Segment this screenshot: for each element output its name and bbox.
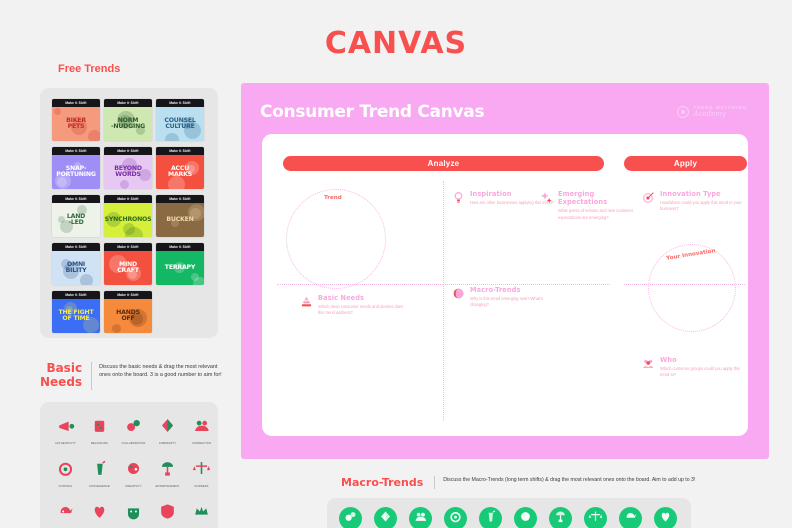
trophy-icon xyxy=(623,509,638,528)
macro-trend-bubble[interactable] xyxy=(409,507,432,528)
macro-trends-title: Macro-Trends xyxy=(341,476,423,489)
decorative-blob xyxy=(80,274,93,285)
macro-trend-bubble[interactable] xyxy=(549,507,572,528)
trend-card[interactable]: Make it ShiftACCUMARKS xyxy=(156,147,204,189)
trend-card[interactable]: Make it ShiftTHE FIGHTOF TIME xyxy=(52,291,100,333)
trend-card[interactable]: Make it ShiftSYNCHRONOS xyxy=(104,195,152,237)
trend-card-bar: Make it Shift xyxy=(52,195,100,203)
basic-need-item[interactable]: HEALTH xyxy=(83,502,116,528)
divider-vertical xyxy=(443,181,444,421)
trend-card-name: ACCUMARKS xyxy=(168,166,192,179)
basic-needs-title-line2: Needs xyxy=(40,376,82,390)
basic-needs-title-line1: Basic xyxy=(40,362,82,376)
bird-icon xyxy=(49,502,82,526)
chip-icon xyxy=(553,509,568,528)
trend-card[interactable]: Make it ShiftHANDSOFF xyxy=(104,291,152,333)
trend-card-bar: Make it Shift xyxy=(52,147,100,155)
basic-need-label: BELONGING xyxy=(83,442,116,445)
sweater-icon xyxy=(83,416,116,440)
basic-need-item[interactable]: CONTROL xyxy=(49,459,82,488)
basic-need-label: CREATIVITY xyxy=(117,485,150,488)
person-icon xyxy=(378,509,393,528)
free-trends-panel: Make it ShiftBIKERPETSMake it ShiftNORM-… xyxy=(40,88,218,338)
basic-needs-title: Basic Needs xyxy=(40,362,82,390)
basic-need-item[interactable]: AUTHENTICITY xyxy=(49,416,82,445)
cell-heading: Basic Needs xyxy=(318,294,410,302)
trend-card-bar: Make it Shift xyxy=(156,99,204,107)
basic-need-label: COLLABORATION xyxy=(117,442,150,445)
heart-icon xyxy=(83,502,116,526)
lightbulb-icon xyxy=(452,191,465,204)
trend-card-bar: Make it Shift xyxy=(104,195,152,203)
cell-heading: Emerging Expectations xyxy=(558,190,640,206)
trendwatching-logo: TREND WATCHING Academy xyxy=(677,105,747,118)
people-icon xyxy=(185,416,218,440)
cell-question: Which deep consumer needs and desires do… xyxy=(318,304,410,316)
page-title: CANVAS xyxy=(0,26,792,61)
trend-circle-label: Trend xyxy=(324,195,342,201)
macro-trends-panel xyxy=(327,498,691,528)
parachute-icon xyxy=(151,459,184,483)
decorative-blob xyxy=(120,180,129,189)
trend-card[interactable]: Make it ShiftNORM-NUDGING xyxy=(104,99,152,141)
basic-need-item[interactable]: IDENTITY xyxy=(117,502,150,528)
shield-icon xyxy=(151,502,184,526)
basic-need-label: AUTHENTICITY xyxy=(49,442,82,445)
megaphone-icon xyxy=(49,416,82,440)
basic-needs-panel: AUTHENTICITYBELONGINGCOLLABORATIONCOMMUN… xyxy=(40,402,218,528)
decorative-blob xyxy=(88,130,100,141)
basic-need-label: FAIRNESS xyxy=(185,485,218,488)
basic-need-item[interactable]: FREEDOM xyxy=(49,502,82,528)
trend-card-bar: Make it Shift xyxy=(156,243,204,251)
macro-trend-bubble[interactable] xyxy=(339,507,362,528)
canvas-workspace: CANVAS Free Trends Make it ShiftBIKERPET… xyxy=(0,0,792,528)
macro-trend-bubble[interactable] xyxy=(374,507,397,528)
trend-card-name: MINDCRAFT xyxy=(117,262,139,275)
basic-need-item[interactable]: CREATIVITY xyxy=(117,459,150,488)
trendwatching-logo-icon xyxy=(677,106,689,118)
mask-icon xyxy=(117,502,150,526)
handshake-icon xyxy=(343,509,358,528)
cell-question: How/where could you apply this trend to … xyxy=(660,200,750,212)
basic-need-label: ENTERTAINMENT xyxy=(151,485,184,488)
basic-need-label: CONNECTION xyxy=(185,442,218,445)
game-icon xyxy=(518,509,533,528)
globe-icon xyxy=(588,509,603,528)
basic-need-item[interactable]: CONNECTION xyxy=(185,416,218,445)
cell-heading: Innovation Type xyxy=(660,190,750,198)
sparkle-icon xyxy=(540,191,553,204)
basic-needs-description: Discuss the basic needs & drag the most … xyxy=(91,362,225,390)
section-header-apply[interactable]: Apply xyxy=(624,156,747,171)
trend-card-bar: Make it Shift xyxy=(156,147,204,155)
trend-card-bar: Make it Shift xyxy=(52,243,100,251)
logo-line2: Academy xyxy=(694,110,747,118)
trend-drop-circle[interactable] xyxy=(286,189,386,289)
macro-trend-bubble[interactable] xyxy=(514,507,537,528)
trend-card-name: NORM-NUDGING xyxy=(111,118,145,131)
divider-horizontal-left xyxy=(277,284,443,285)
trend-card[interactable]: Make it ShiftBUCKEN xyxy=(156,195,204,237)
hand-icon xyxy=(658,509,673,528)
decorative-blob xyxy=(123,223,135,235)
cell-who[interactable]: Who Which customer groups could you appl… xyxy=(642,356,750,379)
trend-card-name: OMNIBILITY xyxy=(66,262,87,275)
basic-need-item[interactable]: STATUS xyxy=(185,502,218,528)
pyramid-icon xyxy=(300,295,313,308)
cell-basic-needs[interactable]: Basic Needs Which deep consumer needs an… xyxy=(300,294,430,317)
cell-question: What points of tension and new customer … xyxy=(558,208,640,220)
trend-card[interactable]: Make it ShiftMINDCRAFT xyxy=(104,243,152,285)
decorative-blob xyxy=(54,108,61,115)
decorative-blob xyxy=(191,273,199,281)
trend-card-bar: Make it Shift xyxy=(52,291,100,299)
divider-horizontal-right xyxy=(443,284,610,285)
trend-card[interactable]: Make it ShiftCOUNSELCULTURE xyxy=(156,99,204,141)
cell-question: Why is this trend emerging now? What's c… xyxy=(470,296,562,308)
cell-question: Which customer groups could you apply th… xyxy=(660,366,750,378)
cell-heading: Who xyxy=(660,356,750,364)
trend-card-name: COUNSELCULTURE xyxy=(164,118,195,131)
cell-innovation-type[interactable]: Innovation Type How/where could you appl… xyxy=(642,190,750,213)
crown-icon xyxy=(185,502,218,526)
trend-card-bar: Make it Shift xyxy=(104,99,152,107)
target-icon xyxy=(642,191,655,204)
macro-trends-grid xyxy=(339,507,677,528)
trend-card-bar: Make it Shift xyxy=(104,243,152,251)
celebrate-icon xyxy=(413,509,428,528)
scales-icon xyxy=(185,459,218,483)
gears-icon xyxy=(117,416,150,440)
macro-trend-bubble[interactable] xyxy=(654,507,677,528)
trend-card-name: TERRAPY xyxy=(165,265,195,271)
trend-card-bar: Make it Shift xyxy=(52,99,100,107)
trend-card-bar: Make it Shift xyxy=(104,147,152,155)
trend-card-name: HANDSOFF xyxy=(116,310,140,323)
decorative-blob xyxy=(112,324,121,333)
trend-card-bar: Make it Shift xyxy=(104,291,152,299)
people-icon xyxy=(448,509,463,528)
basic-need-item[interactable]: SECURITY xyxy=(151,502,184,528)
globe-icon xyxy=(452,287,465,300)
free-trends-heading: Free Trends xyxy=(58,63,120,75)
basic-needs-header: Basic Needs Discuss the basic needs & dr… xyxy=(40,362,225,390)
drink-icon xyxy=(83,459,116,483)
free-trends-grid: Make it ShiftBIKERPETSMake it ShiftNORM-… xyxy=(52,99,204,333)
basic-need-item[interactable]: BELONGING xyxy=(83,416,116,445)
basic-need-item[interactable]: CONVENIENCE xyxy=(83,459,116,488)
steering-icon xyxy=(49,459,82,483)
trend-card[interactable]: Make it ShiftTERRAPY xyxy=(156,243,204,285)
macro-trend-bubble[interactable] xyxy=(444,507,467,528)
section-header-analyze[interactable]: Analyze xyxy=(283,156,604,171)
basic-need-item[interactable]: FAIRNESS xyxy=(185,459,218,488)
trend-card-name: THE FIGHTOF TIME xyxy=(59,310,94,323)
consumer-trend-canvas-board: Consumer Trend Canvas TREND WATCHING Aca… xyxy=(241,83,769,459)
basic-need-label: CONTROL xyxy=(49,485,82,488)
trend-card[interactable]: Make it ShiftLAND-LED xyxy=(52,195,100,237)
handshake-icon xyxy=(151,416,184,440)
basic-need-item[interactable]: COLLABORATION xyxy=(117,416,150,445)
macro-trend-bubble[interactable] xyxy=(619,507,642,528)
basic-need-label: COMMUNITY xyxy=(151,442,184,445)
trend-card-name: SNAP-PORTUNING xyxy=(56,166,95,179)
trend-card-name: SYNCHRONOS xyxy=(105,217,152,223)
trend-card[interactable]: Make it ShiftBIKERPETS xyxy=(52,99,100,141)
palette-icon xyxy=(117,459,150,483)
macro-trends-description: Discuss the Macro-Trends (long term shif… xyxy=(434,476,695,489)
trend-card-name: LAND-LED xyxy=(67,214,85,227)
board-title: Consumer Trend Canvas xyxy=(260,102,484,122)
basic-need-label: CONVENIENCE xyxy=(83,485,116,488)
trend-card[interactable]: Make it ShiftOMNIBILITY xyxy=(52,243,100,285)
trend-card-name: BUCKEN xyxy=(166,217,193,223)
trend-card-name: BEYONDWORDS xyxy=(114,166,142,179)
basic-need-item[interactable]: COMMUNITY xyxy=(151,416,184,445)
trend-card-name: BIKERPETS xyxy=(66,118,86,131)
basic-need-item[interactable]: ENTERTAINMENT xyxy=(151,459,184,488)
trend-card-bar: Make it Shift xyxy=(156,195,204,203)
cell-heading: Macro-Trends xyxy=(470,286,562,294)
cell-emerging-expectations[interactable]: Emerging Expectations What points of ten… xyxy=(540,190,640,221)
cell-macro-trends[interactable]: Macro-Trends Why is this trend emerging … xyxy=(452,286,592,309)
basic-needs-grid: AUTHENTICITYBELONGINGCOLLABORATIONCOMMUN… xyxy=(49,416,218,528)
macro-trends-header: Macro-Trends Discuss the Macro-Trends (l… xyxy=(341,476,695,489)
decorative-blob xyxy=(58,216,65,223)
people-icon xyxy=(642,357,655,370)
trend-card[interactable]: Make it ShiftBEYONDWORDS xyxy=(104,147,152,189)
tag-icon xyxy=(483,509,498,528)
canvas-sheet: Analyze Apply Trend Your Innovation xyxy=(262,134,748,436)
decorative-blob xyxy=(165,133,179,141)
macro-trend-bubble[interactable] xyxy=(584,507,607,528)
macro-trend-bubble[interactable] xyxy=(479,507,502,528)
trend-card[interactable]: Make it ShiftSNAP-PORTUNING xyxy=(52,147,100,189)
